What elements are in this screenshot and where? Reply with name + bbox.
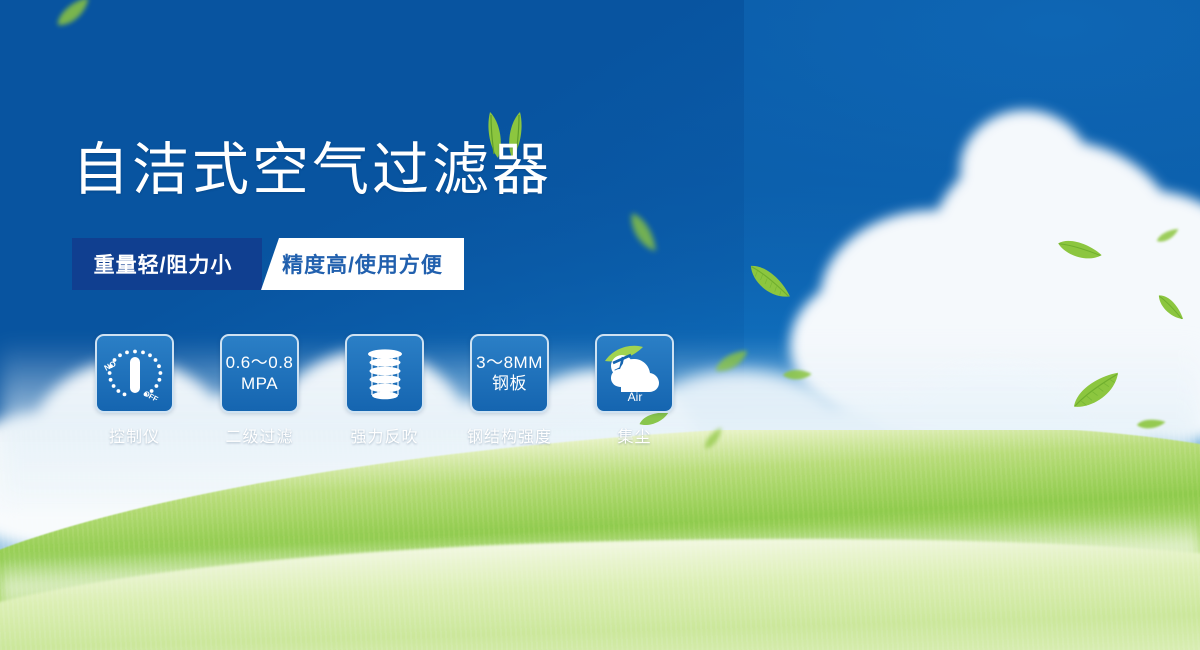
air-cloud-icon: Air	[599, 341, 671, 407]
feature-value-line2: 钢板	[476, 374, 543, 394]
air-label: Air	[627, 390, 642, 404]
feature-label: 集尘	[617, 423, 651, 447]
feature-value-line1: 0.6～0.8	[226, 353, 294, 372]
feature-label: 钢结构强度	[467, 423, 552, 447]
tagline-right: 精度高/使用方便	[261, 238, 464, 290]
pressure-icon: 0.6～0.8 MPA	[226, 353, 294, 393]
feature-icon-box: Air	[595, 334, 674, 413]
feature-label: 强力反吹	[350, 423, 418, 447]
banner-content: 自洁式空气过滤器 重量轻/阻力小 精度高/使用方便	[0, 0, 1200, 650]
feature-icon-box	[345, 334, 424, 413]
feature-value-line1: 3～8MM	[476, 353, 543, 372]
feature-item[interactable]: 强力反吹	[322, 334, 447, 447]
feature-icon-box: NO OFF	[95, 334, 174, 413]
feature-item[interactable]: 0.6～0.8 MPA 二级过滤	[197, 334, 322, 447]
page-title: 自洁式空气过滤器	[72, 142, 552, 199]
feature-item[interactable]: Air 集尘	[572, 334, 697, 447]
product-banner: 自洁式空气过滤器 重量轻/阻力小 精度高/使用方便	[0, 0, 1200, 650]
filter-cartridge-icon	[354, 343, 416, 405]
feature-list: NO OFF 控制仪 0.6～0.8 MPA 二级过滤	[72, 334, 697, 447]
feature-item[interactable]: 3～8MM 钢板 钢结构强度	[447, 334, 572, 447]
feature-item[interactable]: NO OFF 控制仪	[72, 334, 197, 447]
feature-value-line2: MPA	[226, 374, 294, 394]
svg-text:OFF: OFF	[142, 388, 160, 403]
gauge-icon: NO OFF	[100, 343, 170, 405]
feature-icon-box: 0.6～0.8 MPA	[220, 334, 299, 413]
feature-icon-box: 3～8MM 钢板	[470, 334, 549, 413]
tagline-badge: 重量轻/阻力小 精度高/使用方便	[72, 238, 464, 290]
steel-plate-icon: 3～8MM 钢板	[476, 353, 543, 393]
feature-label: 控制仪	[109, 423, 160, 447]
tagline-left: 重量轻/阻力小	[72, 238, 262, 290]
feature-label: 二级过滤	[225, 423, 293, 447]
